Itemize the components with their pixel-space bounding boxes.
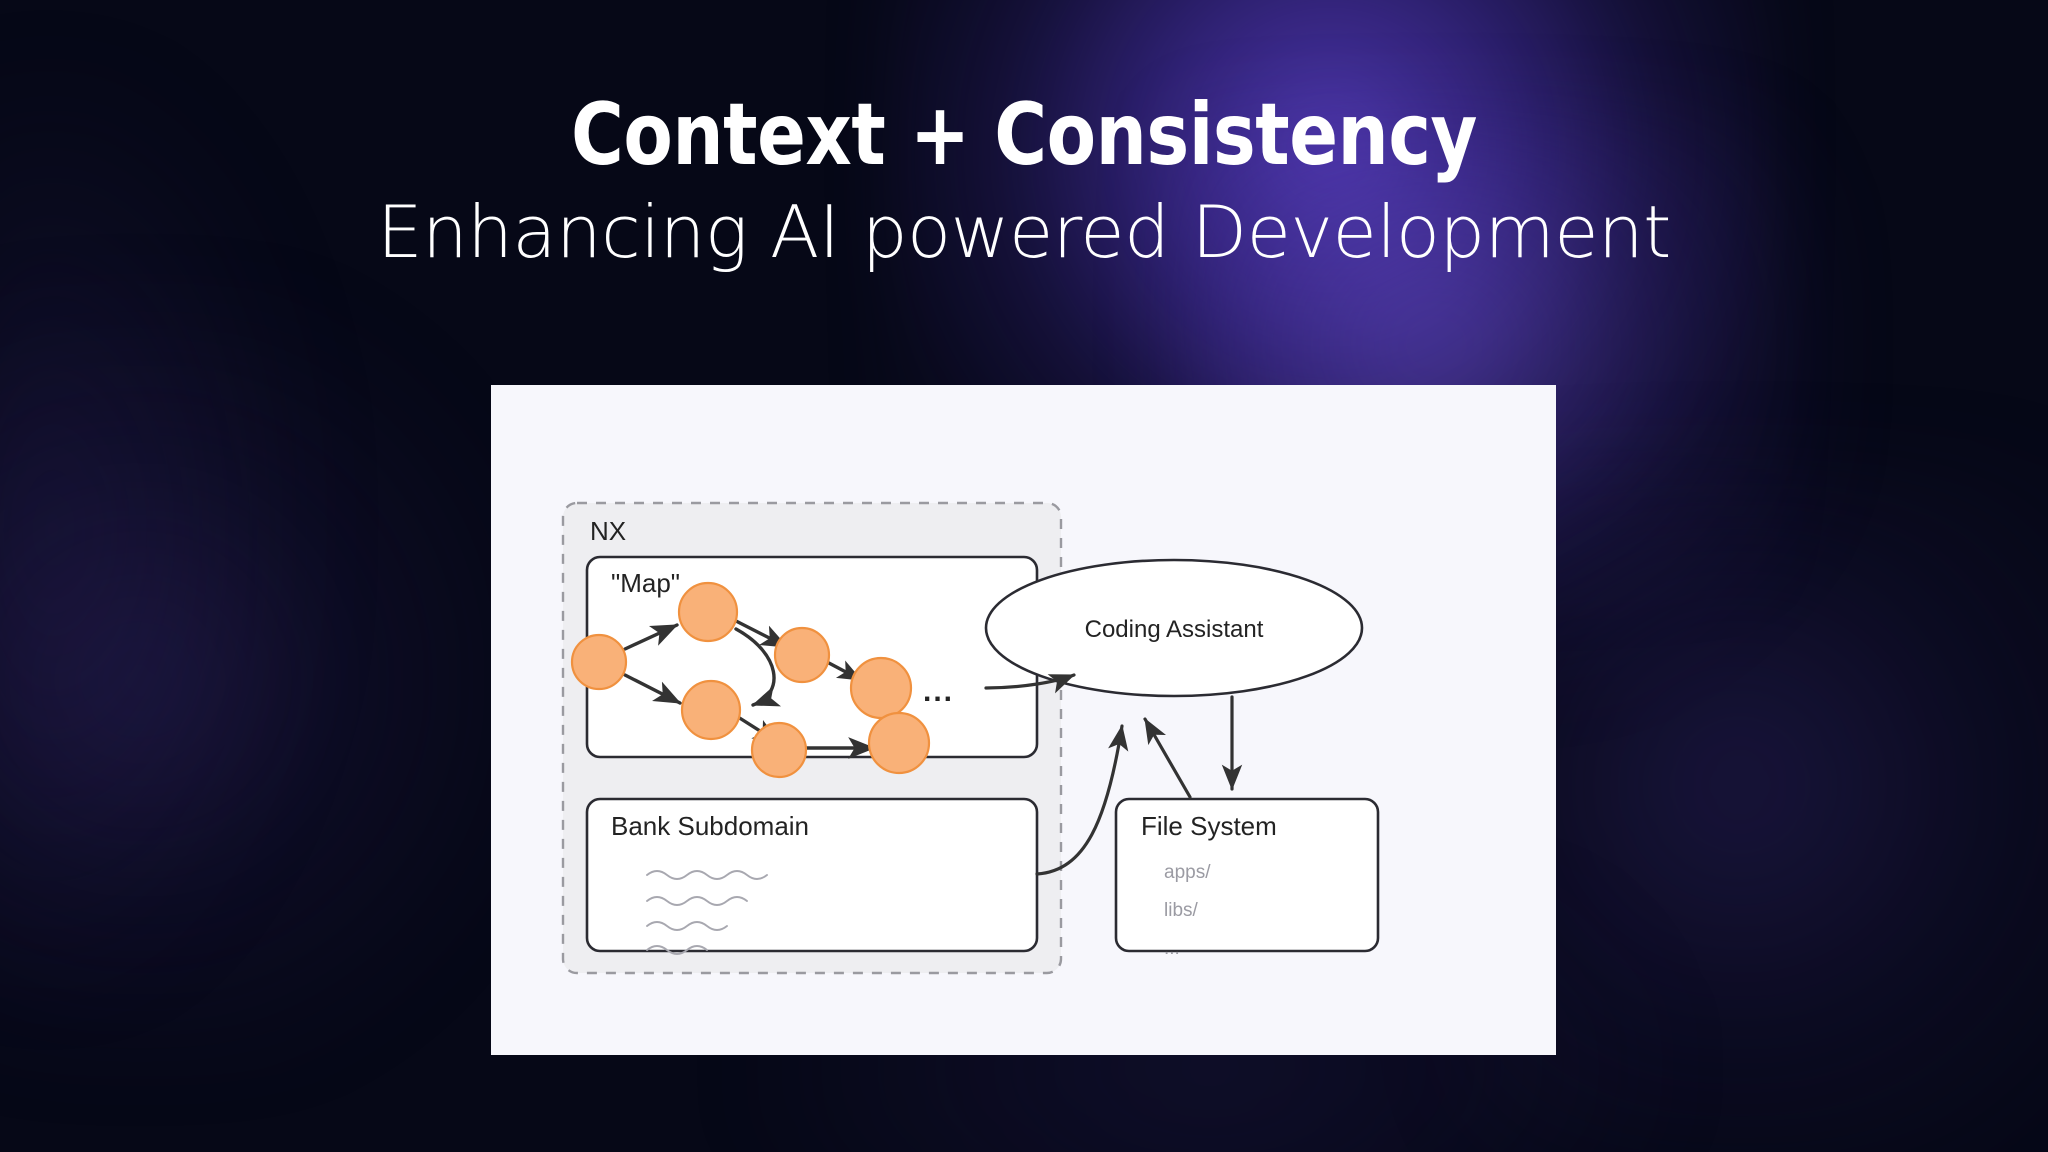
file-system-card[interactable]: File System apps/ libs/ ... — [1116, 799, 1378, 959]
file-system-entry-apps: apps/ — [1164, 862, 1211, 883]
diagram-panel: NX "Map" — [491, 385, 1556, 1055]
map-graph-ellipsis: ... — [923, 675, 954, 708]
graph-node-1[interactable] — [572, 635, 626, 689]
graph-node-5[interactable] — [851, 658, 911, 718]
graph-node-2[interactable] — [679, 583, 737, 641]
coding-assistant-node[interactable]: Coding Assistant — [986, 560, 1362, 696]
graph-node-3[interactable] — [775, 628, 829, 682]
graph-node-7[interactable] — [869, 713, 929, 773]
graph-node-4[interactable] — [682, 681, 740, 739]
diagram-svg: NX "Map" — [491, 385, 1556, 1055]
heading-block: Context + Consistency Enhancing AI power… — [0, 92, 2048, 273]
coding-assistant-label: Coding Assistant — [1085, 616, 1264, 643]
slide-root: Context + Consistency Enhancing AI power… — [0, 0, 2048, 1152]
slide-title: Context + Consistency — [72, 92, 1977, 178]
background-glow-left — [0, 300, 520, 1060]
file-system-entry-libs: libs/ — [1164, 900, 1199, 921]
bank-card-label: Bank Subdomain — [611, 811, 809, 841]
map-card-label: "Map" — [611, 568, 680, 598]
file-system-entry-ellipsis: ... — [1164, 938, 1180, 959]
nx-label: NX — [590, 516, 626, 546]
graph-node-6[interactable] — [752, 723, 806, 777]
slide-subtitle: Enhancing AI powered Development — [0, 192, 2048, 273]
connector-filesystem-to-assistant — [1145, 719, 1190, 797]
file-system-label: File System — [1141, 811, 1277, 841]
map-card[interactable]: "Map" — [572, 557, 1037, 777]
bank-subdomain-card[interactable]: Bank Subdomain — [587, 799, 1037, 954]
